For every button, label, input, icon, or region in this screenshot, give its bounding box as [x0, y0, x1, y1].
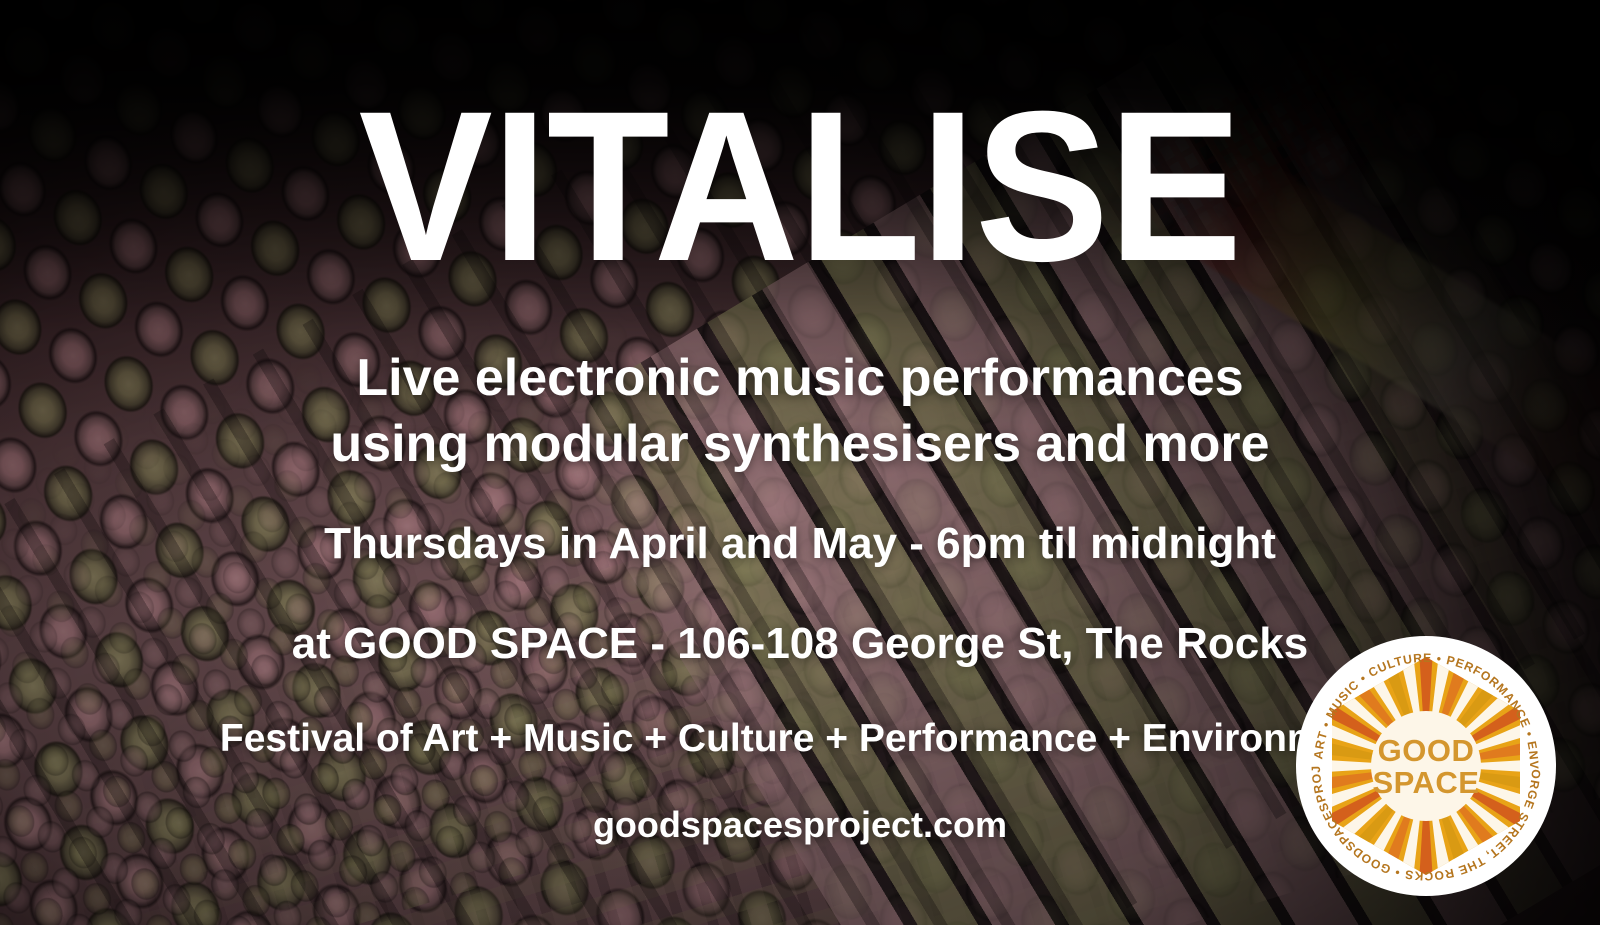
badge-center-line-2: SPACE	[1372, 765, 1479, 800]
poster-subheadline: Live electronic music performances using…	[0, 345, 1600, 477]
badge-svg: GOOD SPACE FESTIVAL OF ART • MUSIC • CUL…	[1295, 635, 1557, 897]
subheadline-line-2: using modular synthesisers and more	[0, 411, 1600, 477]
subheadline-line-1: Live electronic music performances	[0, 345, 1600, 411]
poster-canvas: VITALISE Live electronic music performan…	[0, 0, 1600, 925]
poster-headline: VITALISE	[48, 80, 1552, 294]
badge-center-line-1: GOOD	[1378, 733, 1475, 768]
event-schedule-line: Thursdays in April and May - 6pm til mid…	[0, 518, 1600, 570]
good-space-logo-badge[interactable]: GOOD SPACE FESTIVAL OF ART • MUSIC • CUL…	[1295, 635, 1557, 897]
